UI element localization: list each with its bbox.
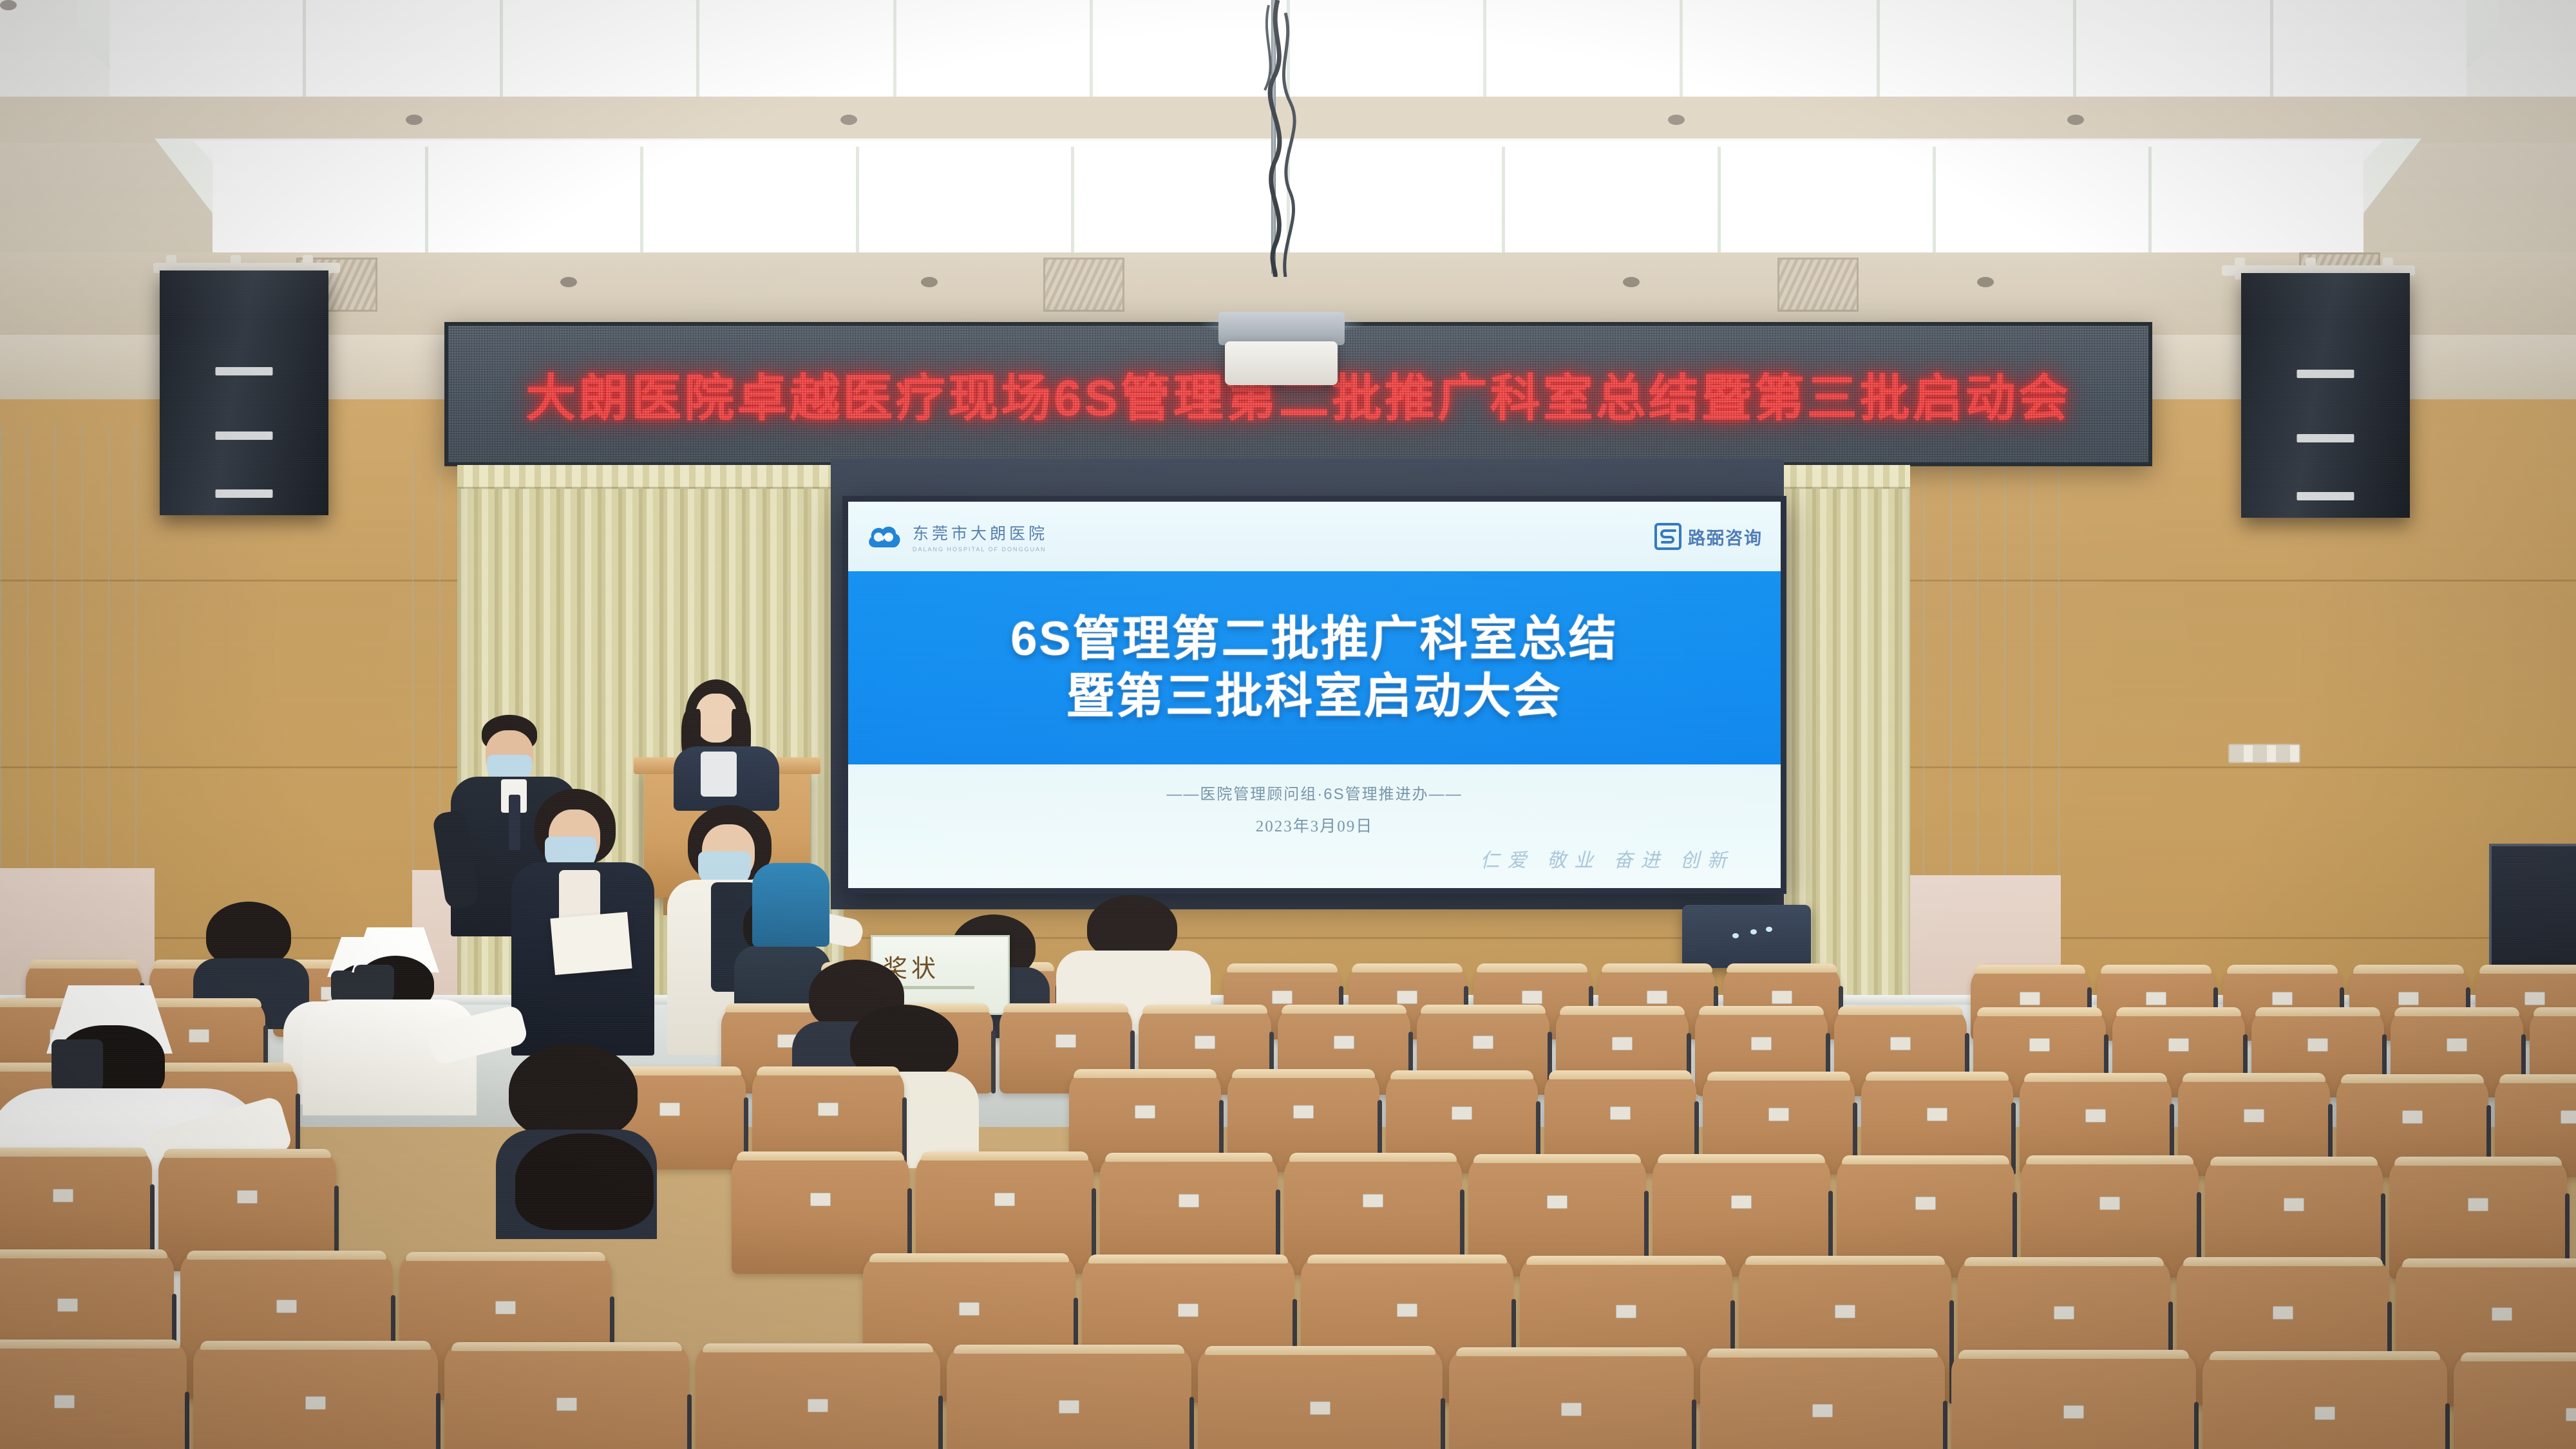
auditorium-seat [1198, 1346, 1443, 1449]
line-array-speaker-left [160, 270, 328, 515]
consultant-name: 路弼咨询 [1688, 524, 1763, 549]
ceiling-downlight-icon [1977, 277, 1994, 287]
auditorium-seat [947, 1345, 1191, 1449]
auditorium-seat [1449, 1347, 1694, 1449]
ceiling-downlight-icon [0, 0, 17, 10]
auditorium-seat [2454, 1352, 2576, 1449]
ceiling-downlight-icon [921, 277, 938, 287]
av-console [1682, 905, 1811, 968]
hospital-name-cn: 东莞市大朗医院 [913, 521, 1048, 544]
slide-footer: ——医院管理顾问组·6S管理推进办—— 2023年3月09日 仁爱 敬业 奋进 … [848, 764, 1781, 888]
projector-bracket [1218, 312, 1345, 345]
ceiling-downlight-icon [2067, 115, 2084, 125]
ceiling-downlight-icon [560, 277, 577, 287]
cloud-medical-logo-icon [866, 522, 902, 551]
projection-screen: 东莞市大朗医院 DALANG HOSPITAL OF DONGGUAN 路弼咨询… [842, 496, 1786, 894]
consultant-logo: 路弼咨询 [1654, 523, 1763, 550]
seated-staff-member [509, 1133, 670, 1262]
woman-at-podium [670, 679, 786, 795]
ceiling-air-vent-icon [1777, 258, 1859, 312]
wall-outlet-icon [2228, 744, 2300, 763]
auditorium-seat [193, 1341, 438, 1449]
slide-date: 2023年3月09日 [848, 813, 1781, 837]
slide-surface: 东莞市大朗医院 DALANG HOSPITAL OF DONGGUAN 路弼咨询… [848, 502, 1781, 888]
slide-title-band: 6S管理第二批推广科室总结 暨第三批科室启动大会 [848, 571, 1781, 764]
slide-title-line-1: 6S管理第二批推广科室总结 [1010, 612, 1618, 666]
ceiling-downlight-icon [1623, 277, 1640, 287]
held-papers [550, 912, 632, 975]
auditorium-seat [696, 1343, 940, 1449]
projector-cable-icon [1224, 0, 1333, 277]
slide-calligraphy-motto: 仁爱 敬业 奋进 创新 [1481, 844, 1735, 873]
nurse-in-white-uniform [303, 927, 477, 1095]
ceiling-downlight-icon [406, 115, 422, 125]
spiral-square-logo-icon [1654, 523, 1681, 550]
auditorium-seat [1951, 1350, 2196, 1449]
seated-staff-member [752, 844, 829, 947]
ceiling-air-vent-icon [1043, 258, 1124, 312]
auditorium-seat [1700, 1349, 1945, 1449]
auditorium-seat [444, 1342, 689, 1449]
slide-header: 东莞市大朗医院 DALANG HOSPITAL OF DONGGUAN 路弼咨询 [848, 502, 1781, 571]
conference-hall-photo: 大朗医院卓越医疗现场6S管理第二批推广科室总结暨第三批启动会 [0, 0, 2576, 1449]
auditorium-seat [2202, 1351, 2447, 1449]
slide-title-line-2: 暨第三批科室启动大会 [1066, 670, 1562, 723]
hospital-logo: 东莞市大朗医院 DALANG HOSPITAL OF DONGGUAN [866, 521, 1048, 553]
line-array-speaker-right [2241, 273, 2410, 518]
ceiling-downlight-icon [840, 115, 857, 125]
auditorium-seat [0, 1340, 187, 1449]
hospital-name-en: DALANG HOSPITAL OF DONGGUAN [913, 546, 1048, 553]
seated-staff-member [1056, 895, 1211, 1011]
side-panel-wall-left [0, 425, 155, 1024]
ceiling-downlight-icon [1668, 115, 1685, 125]
woman-in-dark-blazer-holding-papers [509, 789, 657, 1059]
slide-subtitle: ——医院管理顾问组·6S管理推进办—— [848, 781, 1781, 804]
projector [1225, 341, 1338, 385]
